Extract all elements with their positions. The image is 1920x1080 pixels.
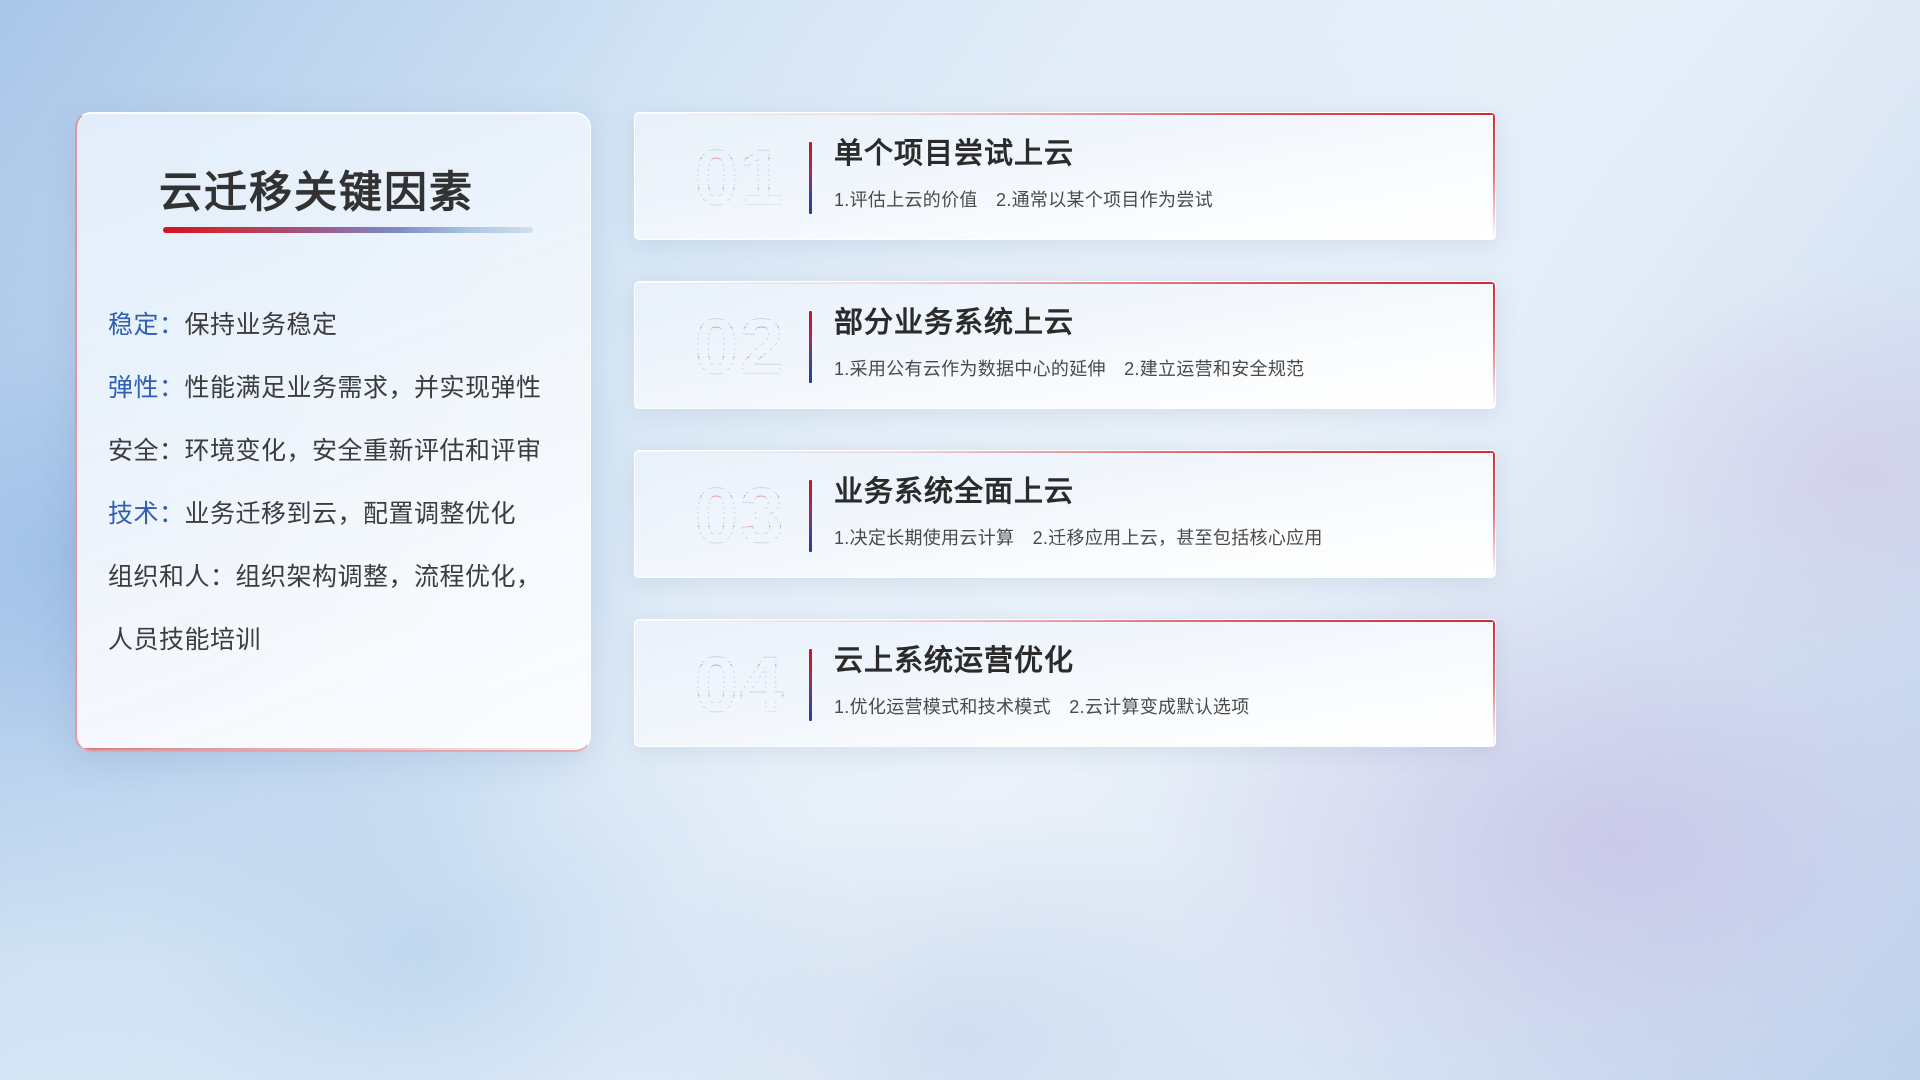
card-right-accent [1493,282,1495,408]
title-underline-accent [163,227,533,233]
stage-card-01[interactable]: 01 01 单个项目尝试上云 1.评估上云的价值 2.通常以某个项目作为尝试 [634,112,1496,240]
slide-content: 云迁移关键因素 稳定：保持业务稳定 弹性：性能满足业务需求，并实现弹性 安全：环… [0,0,1920,1080]
list-item: 安全：环境变化，安全重新评估和评审 [108,439,570,464]
list-item-text: 性能满足业务需求，并实现弹性 [185,374,542,402]
card-top-accent [635,620,1495,622]
list-item-label: 组织和人： [108,563,236,591]
card-right-accent [1493,451,1495,577]
list-item-label: 安全： [108,437,185,465]
stage-description: 1.评估上云的价值 2.通常以某个项目作为尝试 [834,186,1471,212]
stage-heading: 单个项目尝试上云 [834,137,1471,172]
migration-stages-list: 01 01 单个项目尝试上云 1.评估上云的价值 2.通常以某个项目作为尝试 0… [634,112,1496,747]
stage-number-ghost-tint: 02 [660,298,820,394]
card-top-accent [635,451,1495,453]
key-factors-list: 稳定：保持业务稳定 弹性：性能满足业务需求，并实现弹性 安全：环境变化，安全重新… [108,313,570,653]
stage-description: 1.优化运营模式和技术模式 2.云计算变成默认选项 [834,693,1471,719]
list-item-label: 弹性： [108,374,185,402]
list-item-text: 组织架构调整，流程优化， [236,563,542,591]
card-body: 云上系统运营优化 1.优化运营模式和技术模式 2.云计算变成默认选项 [834,644,1471,719]
stage-description: 1.决定长期使用云计算 2.迁移应用上云，甚至包括核心应用 [834,524,1471,550]
card-right-accent [1493,620,1495,746]
card-divider-bar [809,480,812,552]
list-item: 稳定：保持业务稳定 [108,313,570,338]
list-item: 技术：业务迁移到云，配置调整优化 [108,502,570,527]
card-top-accent [635,282,1495,284]
key-factors-panel: 云迁移关键因素 稳定：保持业务稳定 弹性：性能满足业务需求，并实现弹性 安全：环… [75,112,591,752]
stage-number-ghost-tint: 04 [660,636,820,732]
stage-heading: 云上系统运营优化 [834,644,1471,679]
list-item: 弹性：性能满足业务需求，并实现弹性 [108,376,570,401]
stage-card-02[interactable]: 02 02 部分业务系统上云 1.采用公有云作为数据中心的延伸 2.建立运营和安… [634,281,1496,409]
list-item: 组织和人：组织架构调整，流程优化， [108,565,570,590]
stage-description: 1.采用公有云作为数据中心的延伸 2.建立运营和安全规范 [834,355,1471,381]
list-item-text: 保持业务稳定 [185,311,338,339]
card-divider-bar [809,142,812,214]
stage-heading: 部分业务系统上云 [834,306,1471,341]
stage-heading: 业务系统全面上云 [834,475,1471,510]
stage-number-ghost-tint: 01 [660,129,820,225]
list-item-text: 环境变化，安全重新评估和评审 [185,437,542,465]
list-item-text: 业务迁移到云，配置调整优化 [185,500,517,528]
card-body: 部分业务系统上云 1.采用公有云作为数据中心的延伸 2.建立运营和安全规范 [834,306,1471,381]
list-item-text: 人员技能培训 [108,626,261,654]
card-top-accent [635,113,1495,115]
card-right-accent [1493,113,1495,239]
stage-card-04[interactable]: 04 04 云上系统运营优化 1.优化运营模式和技术模式 2.云计算变成默认选项 [634,619,1496,747]
list-item: 人员技能培训 [108,628,570,653]
card-body: 业务系统全面上云 1.决定长期使用云计算 2.迁移应用上云，甚至包括核心应用 [834,475,1471,550]
stage-card-03[interactable]: 03 03 业务系统全面上云 1.决定长期使用云计算 2.迁移应用上云，甚至包括… [634,450,1496,578]
card-body: 单个项目尝试上云 1.评估上云的价值 2.通常以某个项目作为尝试 [834,137,1471,212]
card-divider-bar [809,311,812,383]
stage-number-ghost-tint: 03 [660,467,820,563]
list-item-label: 技术： [108,500,185,528]
panel-title: 云迁移关键因素 [159,158,474,220]
list-item-label: 稳定： [108,311,185,339]
card-divider-bar [809,649,812,721]
